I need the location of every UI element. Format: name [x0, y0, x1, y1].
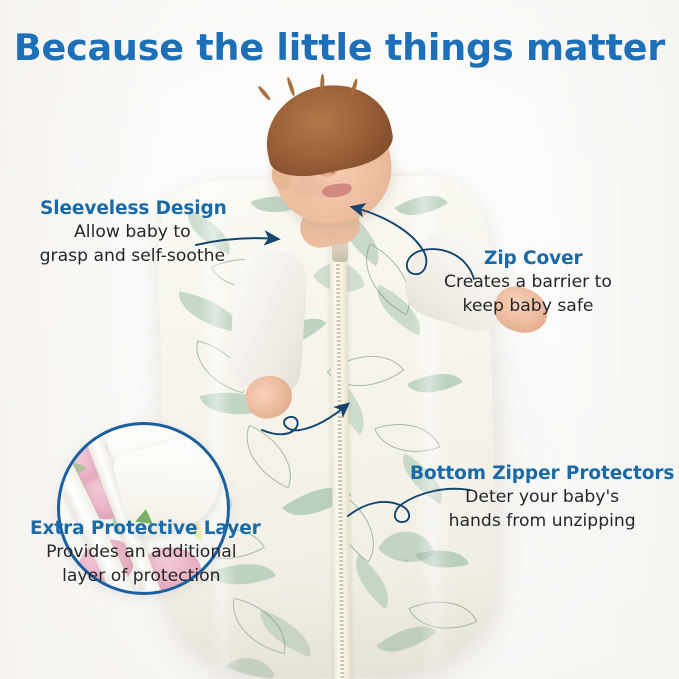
callout-body-line-2: keep baby safe — [444, 296, 612, 317]
callout-body-line-2: layer of protection — [22, 566, 261, 587]
infographic-canvas: Because the little things matter — [0, 0, 679, 679]
callout-bottom-zipper-protectors: Bottom Zipper Protectors Deter your baby… — [410, 463, 674, 532]
callout-body-line-1: Deter your baby's — [410, 487, 674, 508]
hair-wisp — [286, 76, 296, 96]
page-title: Because the little things matter — [0, 26, 679, 69]
callout-zip-cover: Zip Cover Creates a barrier to keep baby… — [444, 248, 612, 317]
callout-body-line-1: Allow baby to — [38, 222, 227, 243]
product-photo — [0, 80, 679, 679]
callout-body-line-1: Creates a barrier to — [444, 272, 612, 293]
hair-wisp — [257, 85, 272, 101]
callout-heading: Zip Cover — [484, 248, 612, 269]
callout-heading: Sleeveless Design — [40, 198, 227, 219]
callout-body-line-1: Provides an additional — [22, 542, 261, 563]
callout-body-line-2: grasp and self-soothe — [38, 246, 227, 267]
callout-heading: Extra Protective Layer — [30, 518, 261, 539]
callout-heading: Bottom Zipper Protectors — [410, 463, 674, 484]
callout-sleeveless-design: Sleeveless Design Allow baby to grasp an… — [38, 198, 227, 267]
callout-extra-protective-layer: Extra Protective Layer Provides an addit… — [22, 518, 261, 587]
callout-body-line-2: hands from unzipping — [410, 511, 674, 532]
